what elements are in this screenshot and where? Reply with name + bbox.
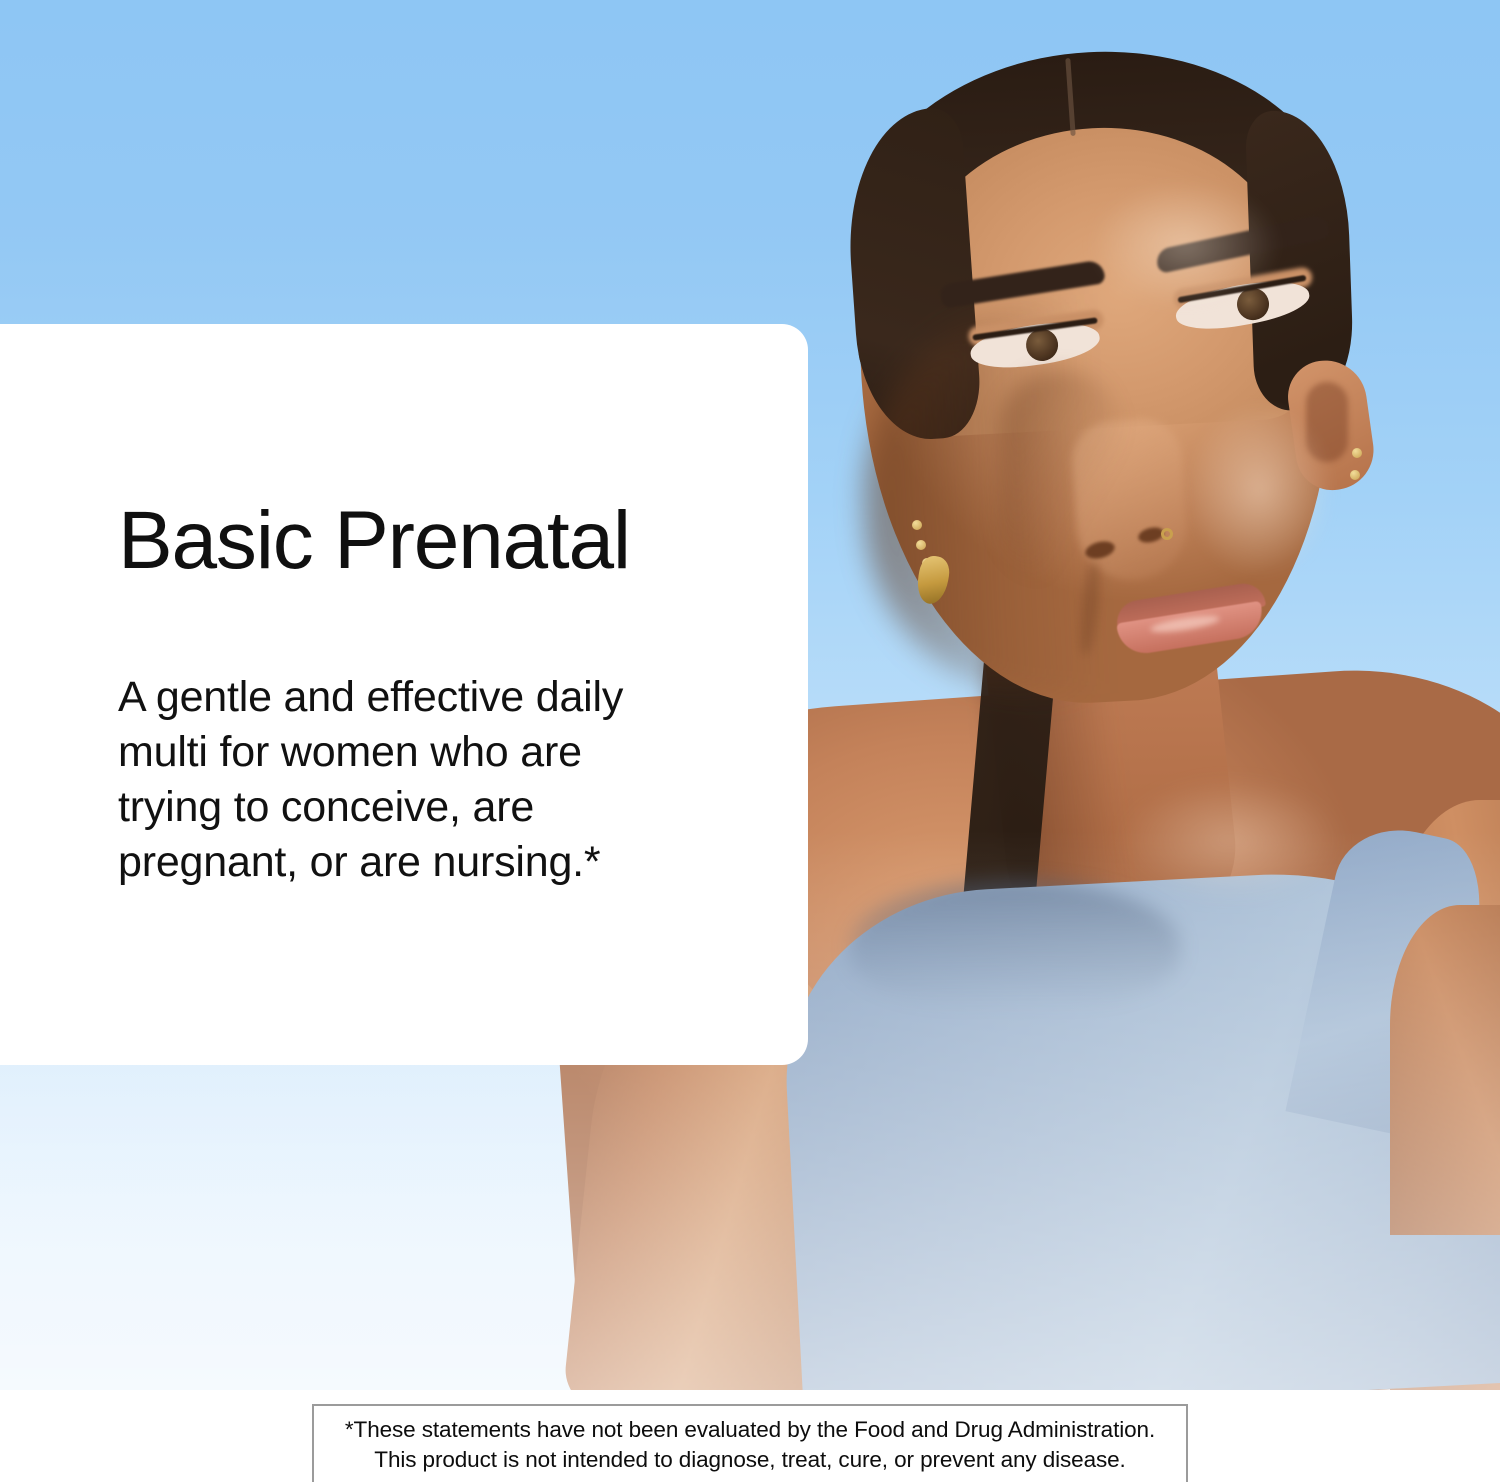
earring-stud [912,520,922,530]
disclaimer-line-1: *These statements have not been evaluate… [324,1415,1176,1445]
page-title: Basic Prenatal [118,500,630,582]
fda-disclaimer-box: *These statements have not been evaluate… [312,1404,1188,1482]
nose-ring-icon [1161,528,1173,540]
earring-stud [1350,470,1360,480]
product-description: A gentle and effective daily multi for w… [118,670,678,890]
cheek-highlight [1185,400,1335,580]
forehead-highlight [1090,180,1280,310]
earring-stud [1352,448,1362,458]
product-copy-card: Basic Prenatal A gentle and effective da… [0,324,808,1065]
earring-stud [916,540,926,550]
footer-area: *These statements have not been evaluate… [0,1390,1500,1482]
product-hero-banner: Basic Prenatal A gentle and effective da… [0,0,1500,1482]
disclaimer-line-2: This product is not intended to diagnose… [324,1445,1176,1475]
copy-card-content: Basic Prenatal A gentle and effective da… [118,324,678,1065]
